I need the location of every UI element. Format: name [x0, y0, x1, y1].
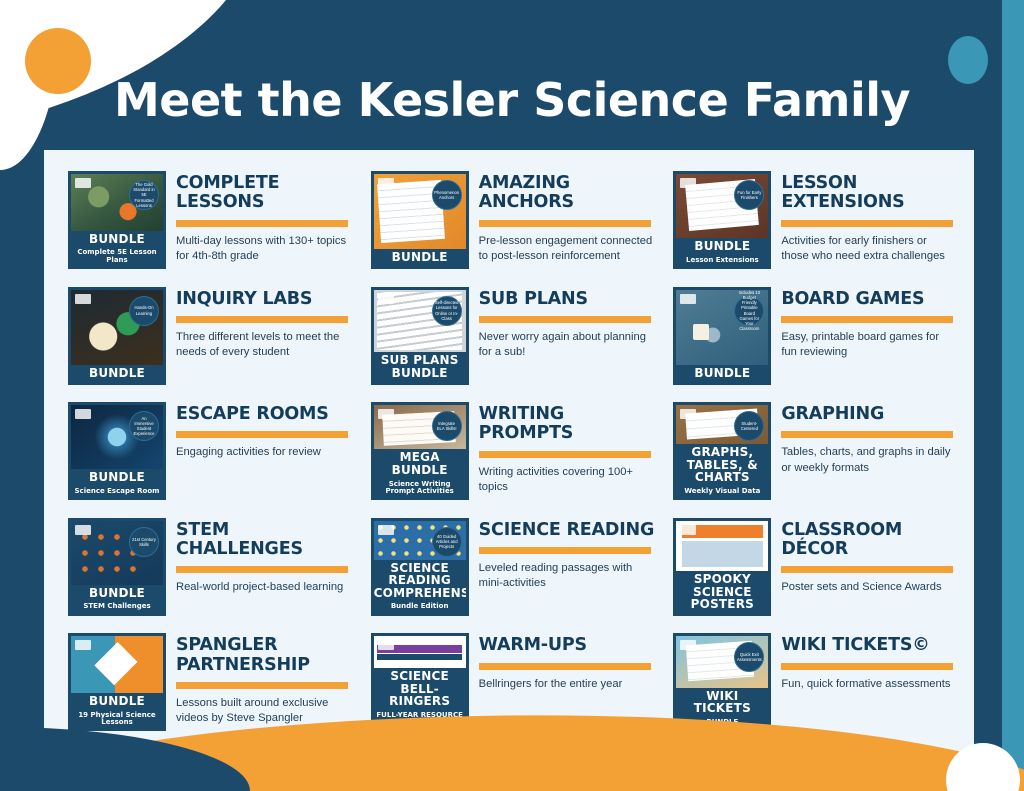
- orange-divider: [781, 431, 953, 438]
- thumbnail-badge: Phenomenon Anchors: [432, 180, 462, 210]
- product-body: AMAZING ANCHORSPre-lesson engagement con…: [479, 166, 658, 264]
- thumbnail-footer: 19 Physical Science Lessons: [71, 710, 163, 729]
- product-thumbnail[interactable]: An Immersive Student ExperienceBUNDLESci…: [68, 402, 166, 500]
- kesler-logo-icon: [378, 525, 394, 535]
- thumbnail-caption: BUNDLE: [71, 469, 163, 486]
- thumbnail-badge: Self-directed Lessons for Online or In-C…: [432, 296, 462, 326]
- product-item[interactable]: Student-CenteredGRAPHS, TABLES, & CHARTS…: [663, 395, 966, 511]
- product-body: STEM CHALLENGESReal-world project-based …: [176, 513, 355, 596]
- product-item[interactable]: Fun for Early FinishersBUNDLELesson Exte…: [663, 164, 966, 280]
- product-body: INQUIRY LABSThree different levels to me…: [176, 282, 355, 361]
- product-description: Fun, quick formative assessments: [781, 677, 956, 692]
- product-body: GRAPHINGTables, charts, and graphs in da…: [781, 397, 960, 476]
- thumbnail-caption: GRAPHS, TABLES, & CHARTS: [676, 444, 768, 486]
- product-thumbnail[interactable]: Includes 10 Budget Friendly Printable Bo…: [673, 287, 771, 385]
- product-description: Activities for early finishers or those …: [781, 234, 956, 264]
- product-item[interactable]: SPOOKY SCIENCE POSTERSCLASSROOM DÉCORPos…: [663, 511, 966, 627]
- product-title: GRAPHING: [781, 405, 960, 424]
- thumbnail-footer: Weekly Visual Data: [676, 486, 768, 497]
- product-body: WARM-UPSBellringers for the entire year: [479, 628, 658, 691]
- thumbnail-caption: MEGA BUNDLE: [374, 449, 466, 478]
- orange-divider: [479, 451, 651, 458]
- product-thumbnail[interactable]: Student-CenteredGRAPHS, TABLES, & CHARTS…: [673, 402, 771, 500]
- kesler-logo-icon: [378, 294, 394, 304]
- product-item[interactable]: 21st Century SkillsBUNDLESTEM Challenges…: [58, 511, 361, 627]
- content-card: The Gold Standard in 5E Formatted Lesson…: [44, 150, 974, 752]
- product-thumbnail[interactable]: The Gold Standard in 5E Formatted Lesson…: [68, 171, 166, 269]
- product-body: SPANGLER PARTNERSHIPLessons built around…: [176, 628, 355, 726]
- thumbnail-caption: BUNDLE: [71, 231, 163, 248]
- product-title: SPANGLER PARTNERSHIP: [176, 636, 355, 675]
- thumbnail-art: Fun for Early Finishers: [676, 174, 768, 238]
- thumbnail-caption: SCIENCE BELL-RINGERS: [374, 668, 466, 710]
- orange-divider: [781, 566, 953, 573]
- product-description: Never worry again about planning for a s…: [479, 330, 654, 360]
- product-item[interactable]: 2 WEEKS OF FREESCIENCE BELL-RINGERSFULL-…: [361, 626, 664, 742]
- thumbnail-caption: BUNDLE: [71, 365, 163, 382]
- thumbnail-caption: WIKI TICKETS: [676, 688, 768, 717]
- product-title: SCIENCE READING: [479, 521, 658, 540]
- product-thumbnail[interactable]: Hands-On LearningLeveled Inquiry LabsBUN…: [68, 287, 166, 385]
- product-description: Three different levels to meet the needs…: [176, 330, 351, 360]
- product-title: BOARD GAMES: [781, 290, 960, 309]
- orange-divider: [176, 566, 348, 573]
- kesler-logo-icon: [75, 409, 91, 419]
- product-title: WARM-UPS: [479, 636, 658, 655]
- product-body: LESSON EXTENSIONSActivities for early fi…: [781, 166, 960, 264]
- product-item[interactable]: SPANGLER PHENOMENONBUNDLE19 Physical Sci…: [58, 626, 361, 742]
- product-description: Lessons built around exclusive videos by…: [176, 696, 351, 726]
- kesler-logo-icon: [378, 640, 394, 650]
- thumbnail-art: Quick Exit Assessments: [676, 636, 768, 687]
- orange-divider: [176, 431, 348, 438]
- product-title: STEM CHALLENGES: [176, 521, 355, 560]
- kesler-logo-icon: [378, 409, 394, 419]
- thumbnail-badge: The Gold Standard in 5E Formatted Lesson…: [129, 180, 159, 210]
- orange-divider: [479, 663, 651, 670]
- product-description: Multi-day lessons with 130+ topics for 4…: [176, 234, 351, 264]
- product-title: WIKI TICKETS©: [781, 636, 960, 655]
- product-title: INQUIRY LABS: [176, 290, 355, 309]
- thumbnail-badge: 21st Century Skills: [129, 527, 159, 557]
- product-title: SUB PLANS: [479, 290, 658, 309]
- product-thumbnail[interactable]: 40 Guided Articles and ProjectsSCIENCE R…: [371, 518, 469, 616]
- product-description: Tables, charts, and graphs in daily or w…: [781, 445, 956, 475]
- kesler-logo-icon: [75, 640, 91, 650]
- product-body: SUB PLANSNever worry again about plannin…: [479, 282, 658, 361]
- product-item[interactable]: 40 Guided Articles and ProjectsSCIENCE R…: [361, 511, 664, 627]
- product-body: CLASSROOM DÉCORPoster sets and Science A…: [781, 513, 960, 596]
- product-item[interactable]: The Gold Standard in 5E Formatted Lesson…: [58, 164, 361, 280]
- product-title: CLASSROOM DÉCOR: [781, 521, 960, 560]
- product-item[interactable]: Integrate ELA Skills!MEGA BUNDLEScience …: [361, 395, 664, 511]
- kesler-logo-icon: [378, 178, 394, 188]
- kesler-logo-icon: [680, 640, 696, 650]
- product-thumbnail[interactable]: Self-directed Lessons for Online or In-C…: [371, 287, 469, 385]
- thumbnail-badge: Includes 10 Budget Friendly Printable Bo…: [734, 296, 764, 326]
- product-body: BOARD GAMESEasy, printable board games f…: [781, 282, 960, 361]
- orange-divider: [479, 547, 651, 554]
- product-thumbnail[interactable]: Phenomenon AnchorsAmazing AnchorsBUNDLE: [371, 171, 469, 269]
- thumbnail-art: Hands-On LearningLeveled Inquiry Labs: [71, 290, 163, 365]
- poster-canvas: Meet the Kesler Science Family The Gold …: [0, 0, 1024, 791]
- kesler-logo-icon: [680, 294, 696, 304]
- thumbnail-art: Integrate ELA Skills!: [374, 405, 466, 449]
- thumbnail-art: Includes 10 Budget Friendly Printable Bo…: [676, 290, 768, 365]
- thumbnail-caption: BUNDLE: [71, 693, 163, 710]
- product-thumbnail[interactable]: Fun for Early FinishersBUNDLELesson Exte…: [673, 171, 771, 269]
- thumbnail-art: An Immersive Student Experience: [71, 405, 163, 469]
- orange-divider: [176, 220, 348, 227]
- thumbnail-art: Student-Centered: [676, 405, 768, 444]
- thumbnail-caption: BUNDLE: [71, 585, 163, 602]
- thumbnail-footer: Lesson Extensions: [676, 255, 768, 266]
- product-body: WRITING PROMPTSWriting activities coveri…: [479, 397, 658, 495]
- product-item[interactable]: Quick Exit AssessmentsWIKI TICKETSBUNDLE…: [663, 626, 966, 742]
- thumbnail-footer: FULL-YEAR RESOURCE SAMPLE: [374, 710, 466, 729]
- thumbnail-art: Phenomenon AnchorsAmazing Anchors: [374, 174, 466, 249]
- product-item[interactable]: Hands-On LearningLeveled Inquiry LabsBUN…: [58, 280, 361, 396]
- kesler-logo-icon: [680, 409, 696, 419]
- product-title: COMPLETE LESSONS: [176, 174, 355, 213]
- product-description: Bellringers for the entire year: [479, 677, 654, 692]
- thumbnail-art: [676, 521, 768, 571]
- thumbnail-footer: Science Escape Room: [71, 486, 163, 497]
- orange-divider: [176, 682, 348, 689]
- product-body: SCIENCE READINGLeveled reading passages …: [479, 513, 658, 592]
- thumbnail-caption: BUNDLE: [374, 249, 466, 266]
- thumbnail-art: SPANGLER PHENOMENON: [71, 636, 163, 693]
- product-body: WIKI TICKETS©Fun, quick formative assess…: [781, 628, 960, 691]
- product-title: ESCAPE ROOMS: [176, 405, 355, 424]
- orange-divider: [479, 220, 651, 227]
- product-description: Poster sets and Science Awards: [781, 580, 956, 595]
- product-title: WRITING PROMPTS: [479, 405, 658, 444]
- product-description: Writing activities covering 100+ topics: [479, 465, 654, 495]
- product-description: Leveled reading passages with mini-activ…: [479, 561, 654, 591]
- thumbnail-art: 40 Guided Articles and Projects: [374, 521, 466, 560]
- thumbnail-caption: BUNDLE: [676, 365, 768, 382]
- thumbnail-footer: BUNDLE: [676, 717, 768, 728]
- product-body: COMPLETE LESSONSMulti-day lessons with 1…: [176, 166, 355, 264]
- kesler-logo-icon: [680, 178, 696, 188]
- product-description: Engaging activities for review: [176, 445, 351, 460]
- product-body: ESCAPE ROOMSEngaging activities for revi…: [176, 397, 355, 460]
- thumbnail-footer: STEM Challenges: [71, 601, 163, 612]
- product-title: AMAZING ANCHORS: [479, 174, 658, 213]
- thumbnail-footer: Complete 5E Lesson Plans: [71, 247, 163, 266]
- page-title: Meet the Kesler Science Family: [0, 73, 1024, 127]
- kesler-logo-icon: [75, 525, 91, 535]
- product-thumbnail[interactable]: 21st Century SkillsBUNDLESTEM Challenges: [68, 518, 166, 616]
- thumbnail-footer: Science Writing Prompt Activities: [374, 479, 466, 498]
- thumbnail-badge: Hands-On Learning: [129, 296, 159, 326]
- thumbnail-art: Self-directed Lessons for Online or In-C…: [374, 290, 466, 353]
- thumbnail-footer: Bundle Edition: [374, 601, 466, 612]
- thumbnail-badge: An Immersive Student Experience: [129, 411, 159, 441]
- kesler-logo-icon: [75, 294, 91, 304]
- orange-divider: [781, 663, 953, 670]
- product-description: Real-world project-based learning: [176, 580, 351, 595]
- product-thumbnail[interactable]: Integrate ELA Skills!MEGA BUNDLEScience …: [371, 402, 469, 500]
- product-description: Pre-lesson engagement connected to post-…: [479, 234, 654, 264]
- orange-divider: [479, 316, 651, 323]
- product-item[interactable]: An Immersive Student ExperienceBUNDLESci…: [58, 395, 361, 511]
- product-thumbnail[interactable]: 2 WEEKS OF FREESCIENCE BELL-RINGERSFULL-…: [371, 633, 469, 731]
- orange-divider: [781, 316, 953, 323]
- thumbnail-caption: SCIENCE READING COMPREHENSION: [374, 560, 466, 602]
- kesler-logo-icon: [75, 178, 91, 188]
- product-item[interactable]: Phenomenon AnchorsAmazing AnchorsBUNDLEA…: [361, 164, 664, 280]
- kesler-logo-icon: [680, 525, 696, 535]
- product-grid: The Gold Standard in 5E Formatted Lesson…: [44, 150, 974, 752]
- product-description: Easy, printable board games for fun revi…: [781, 330, 956, 360]
- product-thumbnail[interactable]: SPANGLER PHENOMENONBUNDLE19 Physical Sci…: [68, 633, 166, 731]
- product-title: LESSON EXTENSIONS: [781, 174, 960, 213]
- thumbnail-art: 21st Century Skills: [71, 521, 163, 585]
- product-item[interactable]: Self-directed Lessons for Online or In-C…: [361, 280, 664, 396]
- product-thumbnail[interactable]: Quick Exit AssessmentsWIKI TICKETSBUNDLE: [673, 633, 771, 731]
- product-item[interactable]: Includes 10 Budget Friendly Printable Bo…: [663, 280, 966, 396]
- thumbnail-badge: 40 Guided Articles and Projects: [432, 527, 462, 557]
- thumbnail-caption: SPOOKY SCIENCE POSTERS: [676, 571, 768, 613]
- thumbnail-art: The Gold Standard in 5E Formatted Lesson…: [71, 174, 163, 231]
- thumbnail-caption: BUNDLE: [676, 238, 768, 255]
- orange-divider: [781, 220, 953, 227]
- thumbnail-caption: SUB PLANS BUNDLE: [374, 352, 466, 381]
- orange-divider: [176, 316, 348, 323]
- thumbnail-badge: Integrate ELA Skills!: [432, 411, 462, 441]
- thumbnail-art: 2 WEEKS OF FREE: [374, 636, 466, 668]
- product-thumbnail[interactable]: SPOOKY SCIENCE POSTERS: [673, 518, 771, 616]
